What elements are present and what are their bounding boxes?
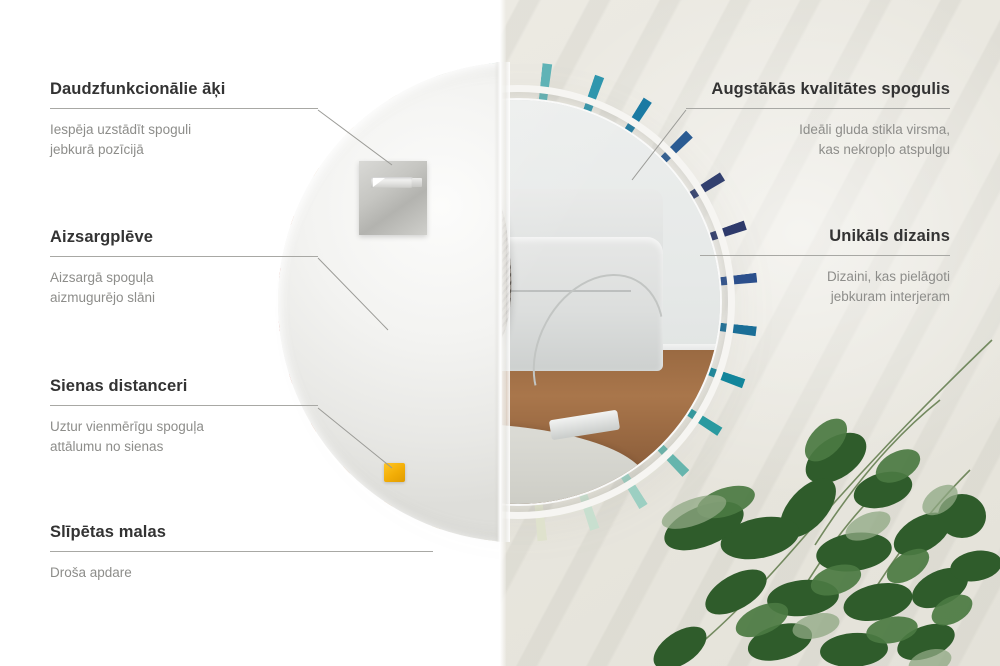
callout-wall-spacers: Sienas distanceri Uztur vienmērīgu spogu… — [50, 377, 318, 456]
callout-premium-mirror: Augstākās kvalitātes spogulis Ideāli glu… — [686, 80, 950, 159]
callout-title: Slīpētas malas — [50, 523, 433, 542]
hanging-hook-plate — [359, 161, 427, 235]
callout-rule — [50, 108, 318, 109]
callout-title: Aizsargplēve — [50, 228, 318, 247]
callout-title: Sienas distanceri — [50, 377, 318, 396]
decorative-foliage — [640, 330, 1000, 666]
callout-title: Daudzfunkcionālie āķi — [50, 80, 318, 99]
callout-unique-design: Unikāls dizains Dizaini, kas pielāgoti j… — [700, 227, 950, 306]
infographic-canvas: Daudzfunkcionālie āķi Iespēja uzstādīt s… — [0, 0, 1000, 666]
callout-multifunctional-hooks: Daudzfunkcionālie āķi Iespēja uzstādīt s… — [50, 80, 318, 159]
callout-rule — [50, 405, 318, 406]
callout-protective-film: Aizsargplēve Aizsargā spoguļa aizmugurēj… — [50, 228, 318, 307]
panel-split-edge — [497, 0, 506, 666]
callout-description: Ideāli gluda stikla virsma, kas nekropļo… — [686, 120, 950, 159]
callout-polished-edges: Slīpētas malas Droša apdare — [50, 523, 433, 583]
callout-rule — [686, 108, 950, 109]
callout-description: Aizsargā spoguļa aizmugurējo slāni — [50, 268, 318, 307]
callout-rule — [700, 255, 950, 256]
wall-spacer — [384, 463, 405, 482]
callout-description: Uztur vienmērīgu spoguļa attālumu no sie… — [50, 417, 318, 456]
callout-title: Augstākās kvalitātes spogulis — [686, 80, 950, 99]
callout-rule — [50, 551, 433, 552]
callout-description: Dizaini, kas pielāgoti jebkuram interjer… — [700, 267, 950, 306]
callout-title: Unikāls dizains — [700, 227, 950, 246]
callout-description: Droša apdare — [50, 563, 433, 583]
callout-description: Iespēja uzstādīt spoguli jebkurā pozīcij… — [50, 120, 318, 159]
callout-rule — [50, 256, 318, 257]
